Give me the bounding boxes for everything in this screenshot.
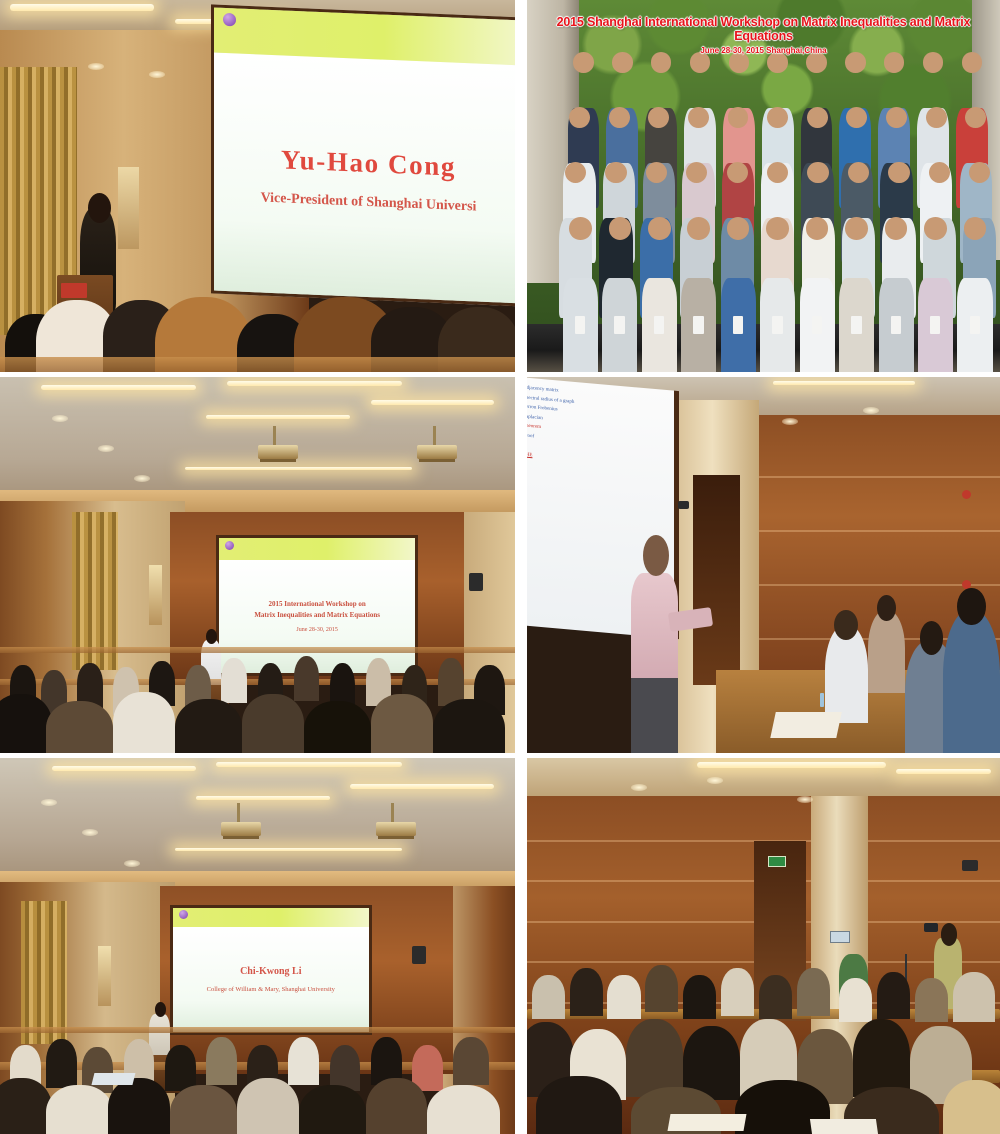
ceiling-light-strip	[697, 762, 886, 768]
wall-panel	[830, 931, 850, 943]
audience-head	[113, 692, 175, 753]
desk-row	[0, 647, 515, 653]
water-bottle	[820, 693, 824, 707]
audience-area	[0, 1006, 515, 1134]
downlight	[124, 860, 140, 867]
downlight	[98, 445, 114, 452]
audience-head	[953, 972, 996, 1023]
audience-head	[797, 968, 830, 1015]
wall-speaker	[412, 946, 426, 964]
downlight	[134, 475, 150, 482]
lecturer-head	[643, 535, 669, 576]
ceiling-projector	[221, 822, 261, 836]
ceiling-light-strip	[227, 381, 402, 386]
wall-speaker	[678, 501, 689, 509]
ceiling-projector	[417, 445, 457, 459]
crowd-row	[565, 107, 991, 168]
audience-head	[0, 694, 52, 753]
audience-head	[532, 975, 565, 1019]
audience-head	[170, 1085, 237, 1134]
audience-head	[607, 975, 640, 1019]
audience-head	[570, 968, 603, 1015]
photo-middle-right[interactable]: Adjacency matrix Spectral radius of a gr…	[527, 377, 1000, 753]
slide-title: Chi-Kwong Li	[240, 966, 301, 977]
slide-title: Yu-Hao Cong	[281, 145, 456, 183]
handwritten-notes: Adjacency matrix Spectral radius of a gr…	[527, 377, 579, 471]
audience-head	[915, 978, 948, 1022]
ceiling-light-strip	[52, 766, 196, 771]
slide-title: 2015 International Workshop on	[268, 600, 365, 608]
seminar-room-scene: Adjacency matrix Spectral radius of a gr…	[527, 377, 1000, 753]
ceiling-light-strip	[10, 4, 154, 11]
wall-indicator-light	[962, 490, 971, 499]
audience-head	[108, 1078, 170, 1134]
ceiling-light-strip	[196, 796, 330, 800]
slide-subtitle: Matrix Inequalities and Matrix Equations	[254, 611, 380, 619]
doorway	[693, 475, 740, 686]
photo-middle-left[interactable]: 2015 International Workshop on Matrix In…	[0, 377, 515, 753]
audience-head	[839, 978, 872, 1022]
video-camera-icon	[924, 923, 938, 932]
audience-head	[371, 694, 433, 753]
crowd-row	[565, 162, 991, 223]
wall-speaker	[962, 860, 978, 871]
slide-header-band	[219, 538, 415, 560]
audience-head	[626, 1019, 683, 1097]
paper-sheet	[667, 1114, 746, 1131]
audience-head	[366, 1078, 428, 1134]
ceiling-light-strip	[216, 762, 401, 767]
photo-top-right[interactable]: 2015 Shanghai International Workshop on …	[527, 0, 1000, 372]
lecture-hall-scene: Chi-Kwong Li College of William & Mary, …	[0, 758, 515, 1134]
attendee	[868, 610, 906, 693]
audience-area	[0, 640, 515, 753]
ceiling-light-strip	[350, 784, 494, 789]
exit-sign-icon	[768, 856, 786, 867]
crowd-row	[565, 52, 991, 113]
audience-head	[221, 658, 247, 703]
lecturer-legs	[631, 678, 678, 753]
audience-head	[299, 1085, 366, 1134]
audience-head	[165, 1045, 196, 1091]
ceiling-projector	[258, 445, 298, 459]
audience-head	[175, 699, 242, 753]
audience-head	[288, 1037, 319, 1086]
audience-head	[237, 1078, 299, 1134]
audience-head	[453, 1037, 489, 1086]
audience-foreground	[0, 201, 515, 372]
group-photo-crowd	[565, 52, 991, 327]
ceiling-light-strip	[175, 848, 402, 851]
desk-row	[0, 357, 515, 372]
audience-head	[721, 968, 754, 1015]
ceiling-light-strip	[206, 415, 350, 419]
audience-head	[330, 1045, 361, 1091]
audience-head	[683, 975, 716, 1019]
university-logo-icon	[225, 541, 234, 550]
audience-head	[0, 1078, 52, 1134]
audience-head	[412, 1045, 443, 1091]
laptop	[91, 1073, 135, 1085]
audience-head	[427, 1085, 499, 1134]
audience-head	[304, 701, 371, 753]
audience-head	[943, 1080, 1000, 1134]
downlight	[863, 407, 879, 414]
wall-niche-light	[98, 946, 111, 1006]
paper-sheet	[770, 712, 842, 738]
audience-head	[46, 1085, 113, 1134]
desk-row	[0, 1027, 515, 1033]
ceiling-projector	[376, 822, 416, 836]
downlight	[88, 63, 104, 70]
photo-bottom-right[interactable]	[527, 758, 1000, 1134]
ceiling-light-strip	[185, 467, 412, 470]
slide-header-band	[173, 908, 369, 928]
university-logo-icon	[179, 910, 188, 919]
audience-head	[206, 1037, 237, 1086]
ceiling-light-strip	[896, 769, 991, 774]
slide-subtitle: College of William & Mary, Shanghai Univ…	[207, 986, 335, 993]
attendee-head	[957, 588, 985, 626]
audience-area	[527, 965, 1000, 1134]
attendee	[943, 610, 1000, 753]
audience-head	[294, 656, 320, 701]
lecture-room-scene: Yu-Hao Cong Vice-President of Shanghai U…	[0, 0, 515, 372]
slide-date: June 28-30, 2015	[296, 627, 338, 633]
audience-head	[433, 699, 505, 753]
wall-niche-light	[149, 565, 162, 625]
audience-head	[759, 975, 792, 1019]
audience-head	[536, 1076, 621, 1134]
paper-sheet	[810, 1119, 878, 1134]
photo-top-left[interactable]: Yu-Hao Cong Vice-President of Shanghai U…	[0, 0, 515, 372]
downlight	[149, 71, 165, 78]
ceiling-light-strip	[41, 385, 196, 390]
attendee-head	[877, 595, 896, 621]
note-highlight: SHE	[527, 450, 574, 464]
downlight	[707, 777, 723, 784]
audience-head	[46, 701, 113, 753]
audience-head	[877, 972, 910, 1019]
audience-head	[645, 965, 678, 1012]
audience-head	[242, 694, 304, 753]
lecture-hall-scene: 2015 International Workshop on Matrix In…	[0, 377, 515, 753]
audience-head	[853, 1019, 910, 1097]
university-logo-icon	[223, 13, 236, 27]
ceiling-light-strip	[371, 400, 495, 405]
downlight	[52, 415, 68, 422]
photo-collage: Yu-Hao Cong Vice-President of Shanghai U…	[0, 0, 1000, 1134]
audience-head	[46, 1039, 77, 1088]
crowd-row	[565, 217, 991, 283]
wall-speaker	[469, 573, 483, 591]
downlight	[797, 796, 813, 803]
photo-bottom-left[interactable]: Chi-Kwong Li College of William & Mary, …	[0, 758, 515, 1134]
audience-scene	[527, 758, 1000, 1134]
ceiling-light-strip	[773, 381, 915, 385]
